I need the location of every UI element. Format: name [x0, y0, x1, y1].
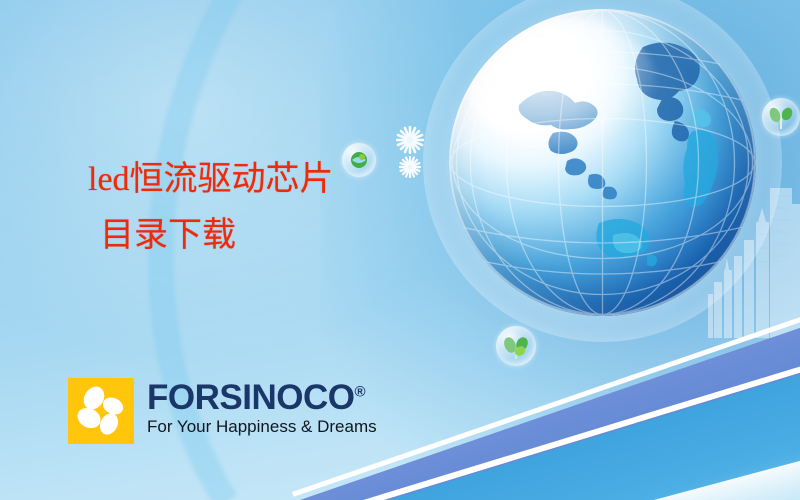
green-globe-icon: [342, 143, 376, 177]
headline-text: led恒流驱动芯片 目录下载: [88, 163, 334, 253]
eco-bubble-3: [762, 98, 800, 136]
headline-line-1: led恒流驱动芯片: [88, 163, 334, 197]
promo-banner: led恒流驱动芯片 目录下载 FORSINOCO® For Your Happi…: [0, 0, 800, 500]
brand-logo: FORSINOCO® For Your Happiness & Dreams: [68, 378, 377, 444]
logo-mark: [68, 378, 134, 444]
eco-bubble-1: [342, 143, 376, 177]
globe-sphere: [449, 9, 756, 316]
earth-globe: [449, 9, 756, 316]
globe-rim: [449, 9, 756, 316]
four-petal-pinwheel-icon: [68, 378, 134, 444]
headline-line-2: 目录下载: [100, 219, 334, 253]
logo-name-word: FORSINOCO: [147, 378, 354, 417]
eco-bubble-2: [496, 326, 536, 366]
green-sprout-icon: [762, 98, 800, 136]
logo-tagline: For Your Happiness & Dreams: [147, 418, 377, 437]
sparkle-icon: [399, 156, 421, 178]
green-sprout-icon: [496, 326, 536, 366]
sparkle-icon: [396, 126, 424, 154]
logo-text-block: FORSINOCO® For Your Happiness & Dreams: [147, 378, 377, 437]
logo-name: FORSINOCO®: [147, 380, 377, 415]
registered-trademark-symbol: ®: [354, 383, 365, 400]
